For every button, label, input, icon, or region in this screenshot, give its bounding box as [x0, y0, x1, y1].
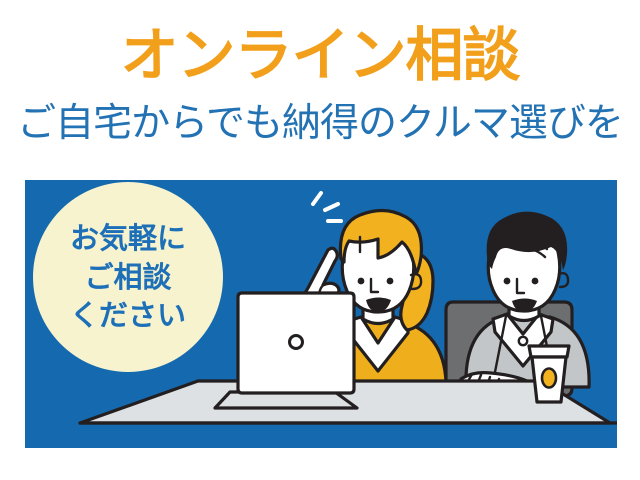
badge-line-3: ください: [70, 296, 186, 335]
page-subtitle: ご自宅からでも納得のクルマ選びを: [0, 104, 640, 143]
illustration-panel: .ln { fill:none; stroke:#231F20; stroke-…: [25, 180, 617, 448]
online-consultation-banner: オンライン相談 ご自宅からでも納得のクルマ選びを .ln { fill:none…: [0, 0, 640, 480]
headline-block: オンライン相談 ご自宅からでも納得のクルマ選びを: [0, 0, 640, 172]
coffee-cup: [529, 346, 569, 402]
badge-line-1: お気軽に: [70, 219, 186, 258]
page-title: オンライン相談: [0, 26, 640, 84]
status-badge: お気軽に ご相談 ください: [33, 182, 223, 372]
laptop: [215, 293, 357, 408]
badge-line-2: ご相談: [84, 258, 171, 297]
sparkle-icon: [313, 193, 341, 221]
